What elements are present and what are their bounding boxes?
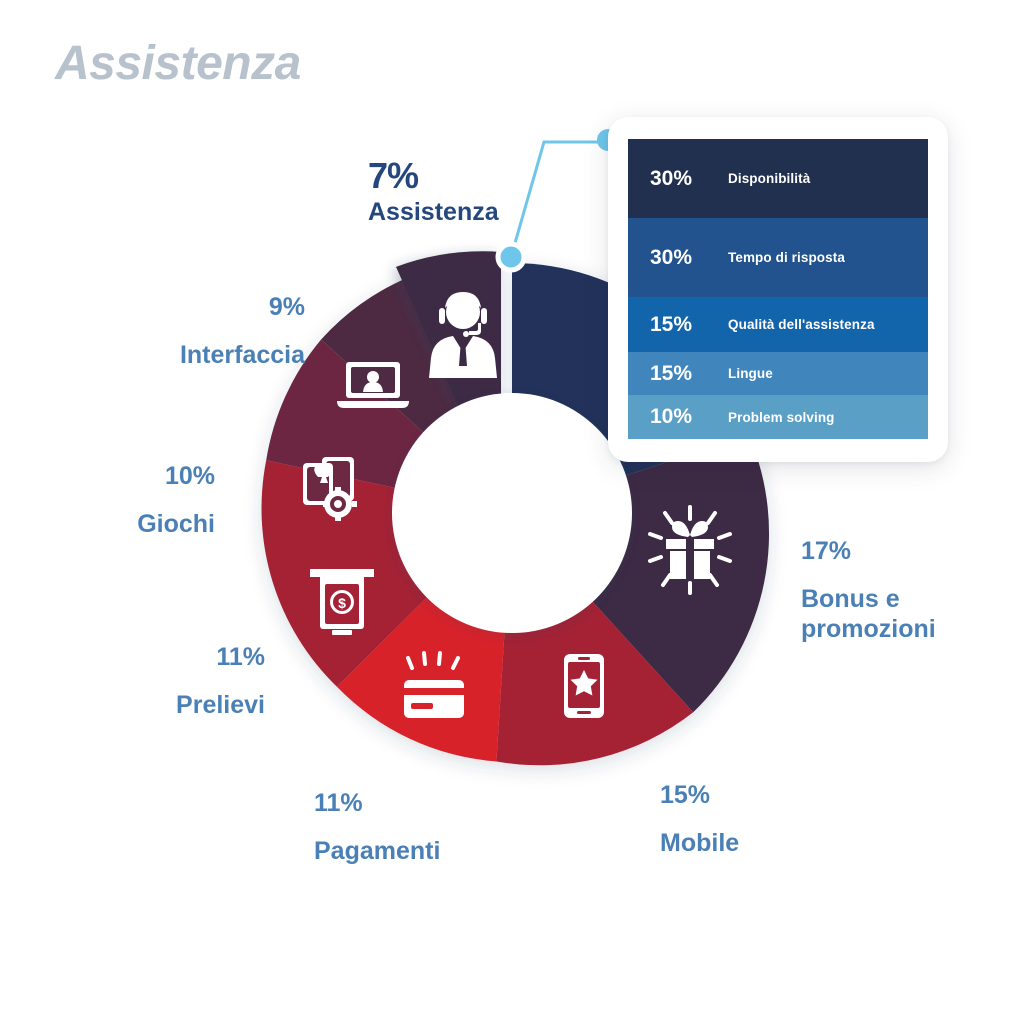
- slice-label-interfaccia: 9% Interfaccia: [110, 274, 305, 390]
- breakdown-label: Lingue: [728, 366, 773, 381]
- breakdown-pct: 10%: [650, 405, 728, 429]
- slice-pct-bonus: 17%: [801, 537, 1011, 567]
- slice-name-pagamenti: Pagamenti: [314, 837, 524, 867]
- slice-name-giochi: Giochi: [75, 510, 215, 540]
- slice-pct-assistenza: 7%: [368, 156, 499, 196]
- svg-text:$: $: [338, 595, 346, 611]
- breakdown-row[interactable]: 15% Lingue: [628, 352, 928, 395]
- breakdown-row[interactable]: 30% Tempo di risposta: [628, 218, 928, 297]
- slice-pct-giochi: 10%: [75, 462, 215, 492]
- slice-name-assistenza: Assistenza: [368, 199, 499, 227]
- slice-pct-mobile: 15%: [660, 781, 860, 811]
- breakdown-label: Tempo di risposta: [728, 250, 845, 265]
- breakdown-pct: 30%: [650, 167, 728, 191]
- slice-pct-pagamenti: 11%: [314, 789, 524, 819]
- slice-label-assistenza: 7% Assistenza: [368, 156, 499, 226]
- breakdown-label: Qualità dell'assistenza: [728, 317, 875, 332]
- breakdown-pct: 15%: [650, 362, 728, 386]
- breakdown-row[interactable]: 10% Problem solving: [628, 395, 928, 439]
- donut-hole: [392, 393, 632, 633]
- breakdown-label: Problem solving: [728, 410, 835, 425]
- breakdown-pct: 15%: [650, 313, 728, 337]
- laptop-user-icon: [337, 362, 409, 408]
- slice-pct-interfaccia: 9%: [110, 293, 305, 323]
- mobile-star-icon: [564, 654, 604, 718]
- slice-name-prelievi: Prelievi: [95, 691, 265, 721]
- slice-pct-prelievi: 11%: [95, 643, 265, 673]
- slice-name-bonus: Bonus e promozioni: [801, 585, 1011, 644]
- slice-label-prelievi: 11% Prelievi: [95, 624, 265, 740]
- breakdown-pct: 30%: [650, 246, 728, 270]
- slice-label-mobile: 15% Mobile: [660, 762, 860, 878]
- breakdown-row[interactable]: 30% Disponibilità: [628, 139, 928, 218]
- slice-label-pagamenti: 11% Pagamenti: [314, 770, 524, 886]
- slice-name-mobile: Mobile: [660, 829, 860, 859]
- slice-name-interfaccia: Interfaccia: [110, 341, 305, 371]
- slice-label-giochi: 10% Giochi: [75, 443, 215, 559]
- breakdown-row[interactable]: 15% Qualità dell'assistenza: [628, 297, 928, 352]
- breakdown-label: Disponibilità: [728, 171, 810, 186]
- infographic-canvas: Assistenza: [0, 0, 1024, 1024]
- assistenza-breakdown-card: 30% Disponibilità 30% Tempo di risposta …: [608, 117, 948, 462]
- slice-label-bonus: 17% Bonus e promozioni: [801, 518, 1011, 663]
